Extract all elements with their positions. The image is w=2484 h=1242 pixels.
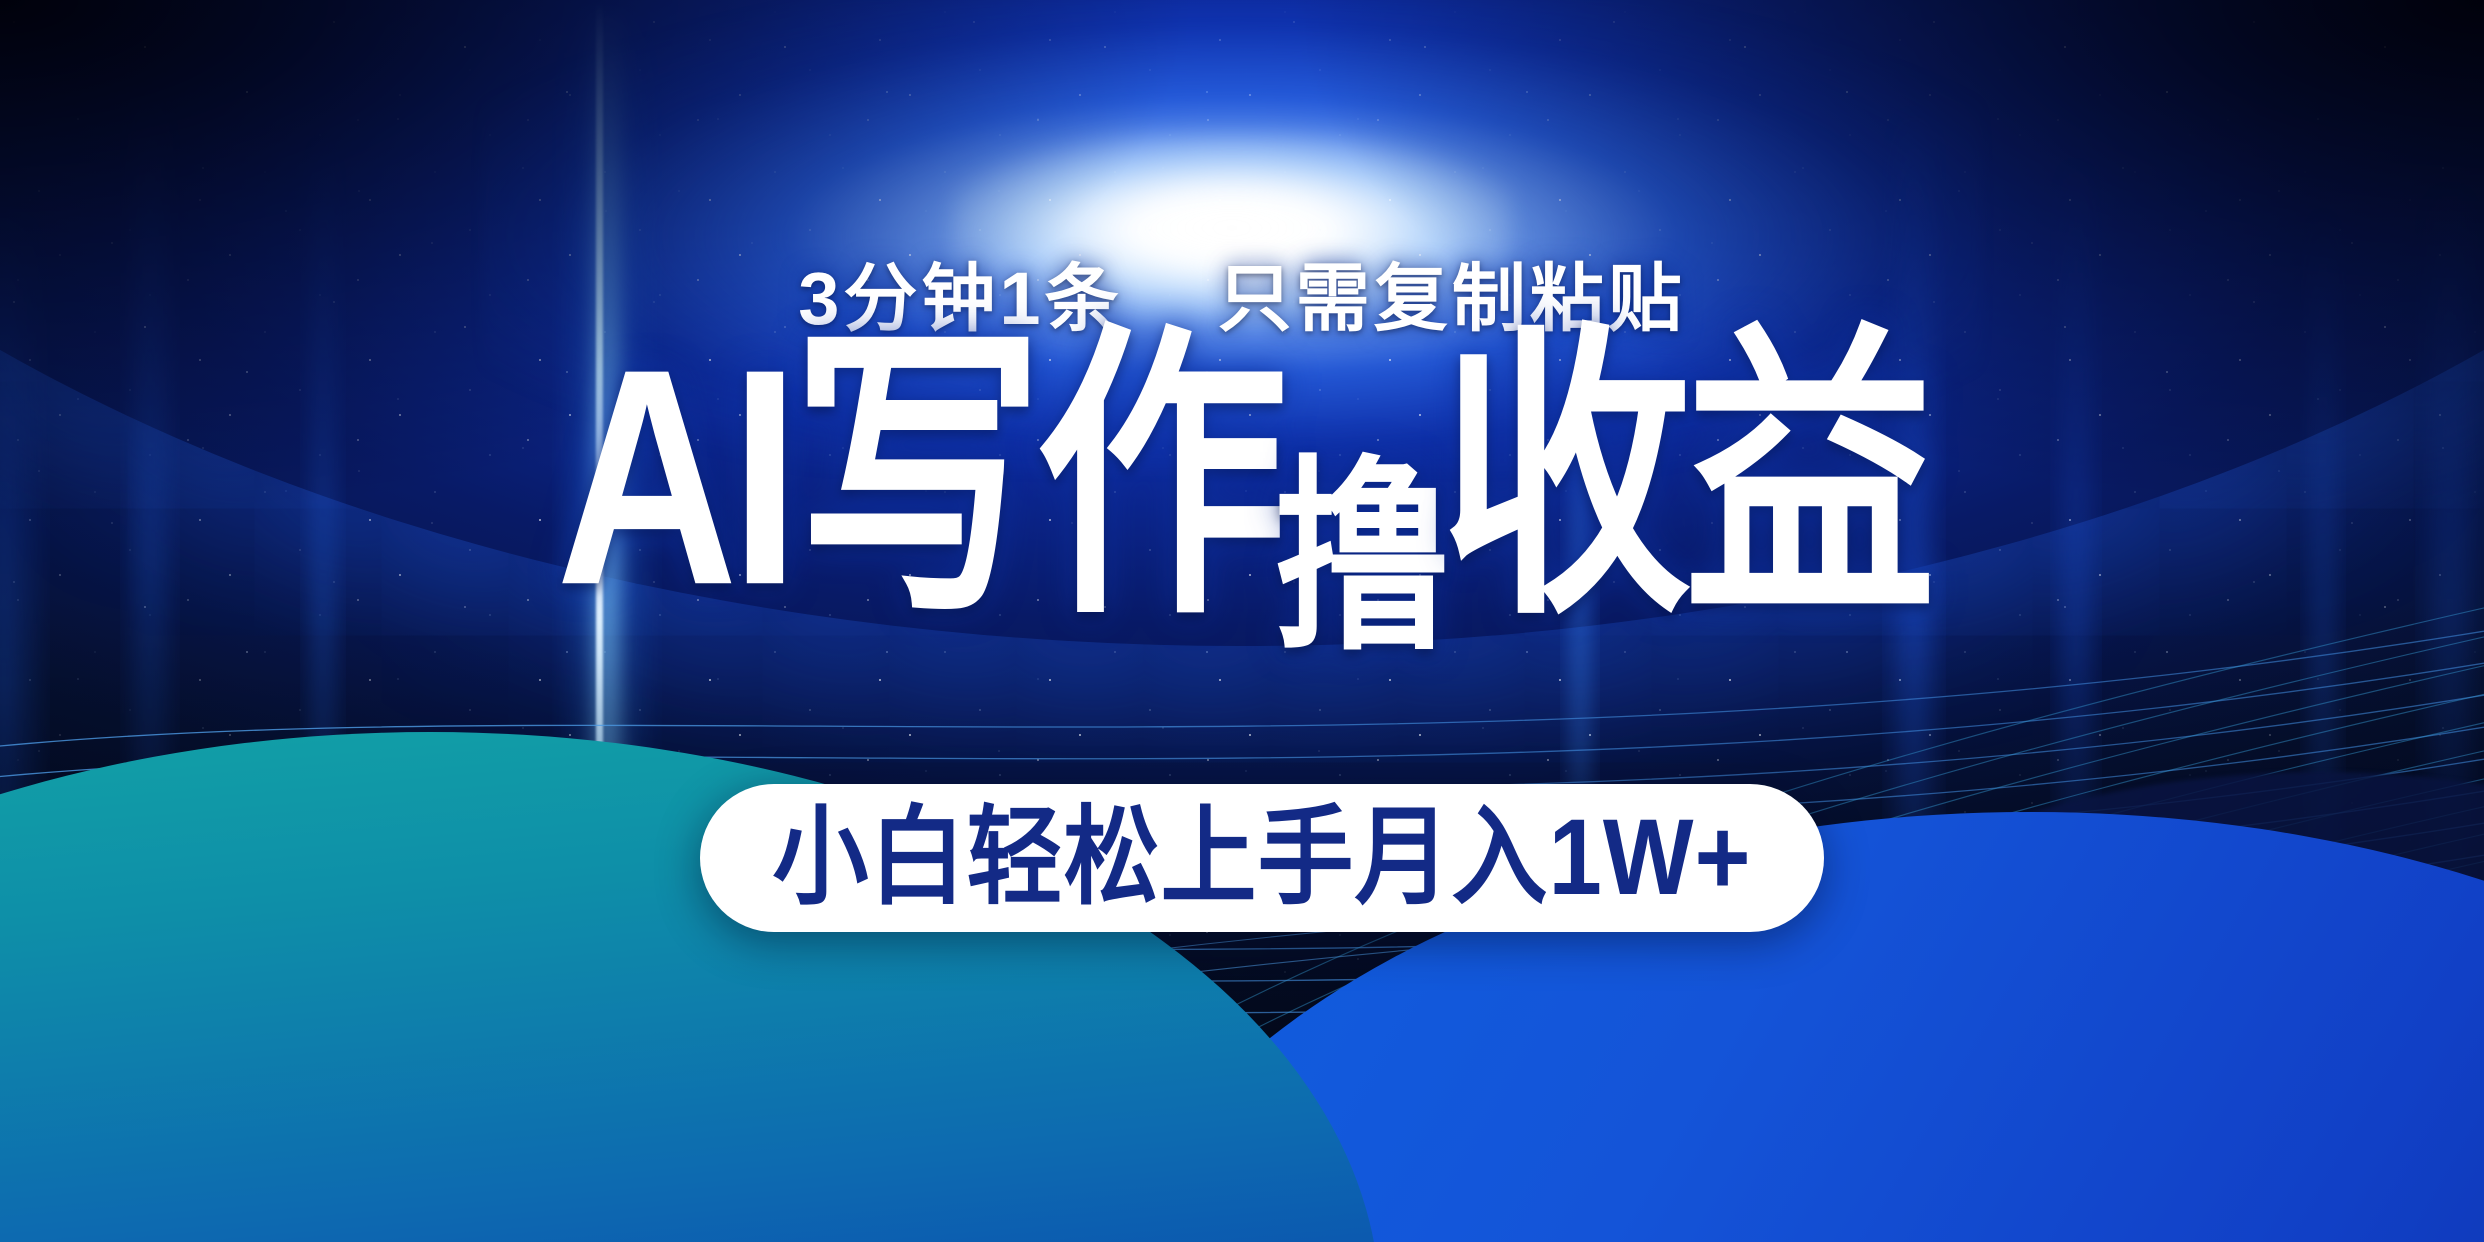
- poster-content: 3分钟1条 只需复制粘贴 AI写作撸收益 小白轻松上手月入1W+: [0, 0, 2484, 1242]
- subtitle-pill-label: 小白轻松上手月入1W+: [772, 804, 1751, 912]
- page-title: AI写作撸收益: [0, 380, 2484, 632]
- headline-segment-3: 收益: [1440, 325, 1928, 632]
- headline-segment-1: AI写作: [556, 325, 1280, 632]
- headline-segment-2: 撸: [1274, 455, 1446, 663]
- promo-poster: 3分钟1条 只需复制粘贴 AI写作撸收益 小白轻松上手月入1W+: [0, 0, 2484, 1242]
- subtitle-pill: 小白轻松上手月入1W+: [700, 784, 1824, 932]
